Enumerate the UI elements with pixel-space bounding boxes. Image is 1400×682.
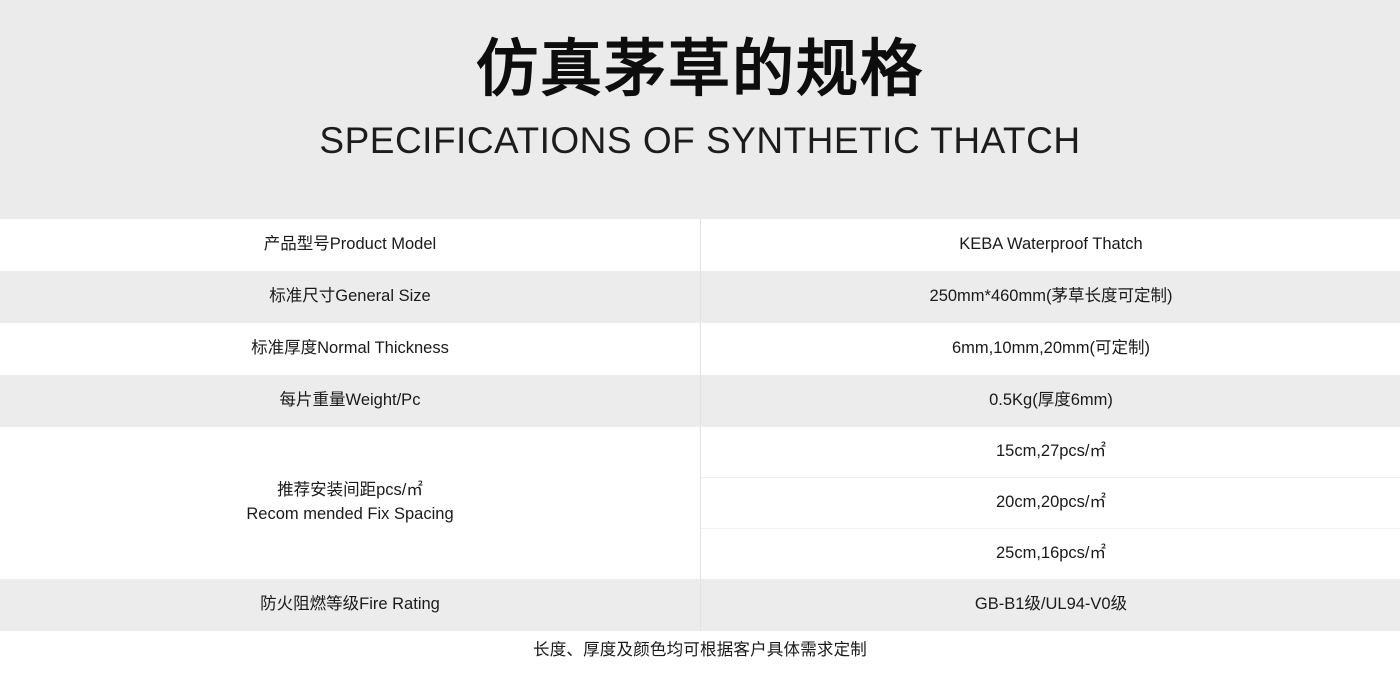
- spacing-value: 15cm,27pcs/㎡: [701, 427, 1400, 478]
- spec-label: 防火阻燃等级Fire Rating: [0, 579, 701, 631]
- spec-value: 6mm,10mm,20mm(可定制): [701, 323, 1400, 375]
- spec-value-spacing-list: 15cm,27pcs/㎡ 20cm,20pcs/㎡ 25cm,16pcs/㎡: [701, 427, 1400, 579]
- spec-value: KEBA Waterproof Thatch: [701, 219, 1400, 271]
- spec-value: GB-B1级/UL94-V0级: [701, 579, 1400, 631]
- spacing-sub-row: 15cm,27pcs/㎡: [701, 427, 1400, 478]
- spacing-sub-row: 25cm,16pcs/㎡: [701, 529, 1400, 580]
- table-row: 标准厚度Normal Thickness 6mm,10mm,20mm(可定制): [0, 323, 1400, 375]
- spacing-subtable: 15cm,27pcs/㎡ 20cm,20pcs/㎡ 25cm,16pcs/㎡: [701, 427, 1400, 579]
- spacing-sub-row: 20cm,20pcs/㎡: [701, 478, 1400, 529]
- table-row: 产品型号Product Model KEBA Waterproof Thatch: [0, 219, 1400, 271]
- specifications-page: 仿真茅草的规格 SPECIFICATIONS OF SYNTHETIC THAT…: [0, 0, 1400, 682]
- spec-label-line-2: Recom mended Fix Spacing: [0, 503, 700, 527]
- spec-label-spacing: 推荐安装间距pcs/㎡ Recom mended Fix Spacing: [0, 427, 701, 579]
- page-title-en: SPECIFICATIONS OF SYNTHETIC THATCH: [319, 119, 1080, 163]
- page-header: 仿真茅草的规格 SPECIFICATIONS OF SYNTHETIC THAT…: [0, 0, 1400, 219]
- specifications-table: 产品型号Product Model KEBA Waterproof Thatch…: [0, 219, 1400, 631]
- spec-label: 每片重量Weight/Pc: [0, 375, 701, 427]
- spec-value: 0.5Kg(厚度6mm): [701, 375, 1400, 427]
- footnote-text: 长度、厚度及颜色均可根据客户具体需求定制: [0, 636, 1400, 660]
- spacing-value: 20cm,20pcs/㎡: [701, 478, 1400, 529]
- spec-label: 产品型号Product Model: [0, 219, 701, 271]
- table-row: 每片重量Weight/Pc 0.5Kg(厚度6mm): [0, 375, 1400, 427]
- table-row: 标准尺寸General Size 250mm*460mm(茅草长度可定制): [0, 271, 1400, 323]
- spec-label: 标准厚度Normal Thickness: [0, 323, 701, 375]
- spec-label: 标准尺寸General Size: [0, 271, 701, 323]
- spec-label-line-1: 推荐安装间距pcs/㎡: [0, 479, 700, 503]
- table-row-spacing-group: 推荐安装间距pcs/㎡ Recom mended Fix Spacing 15c…: [0, 427, 1400, 579]
- table-row: 防火阻燃等级Fire Rating GB-B1级/UL94-V0级: [0, 579, 1400, 631]
- spec-value: 250mm*460mm(茅草长度可定制): [701, 271, 1400, 323]
- spacing-value: 25cm,16pcs/㎡: [701, 529, 1400, 580]
- page-title-cn: 仿真茅草的规格: [476, 34, 924, 105]
